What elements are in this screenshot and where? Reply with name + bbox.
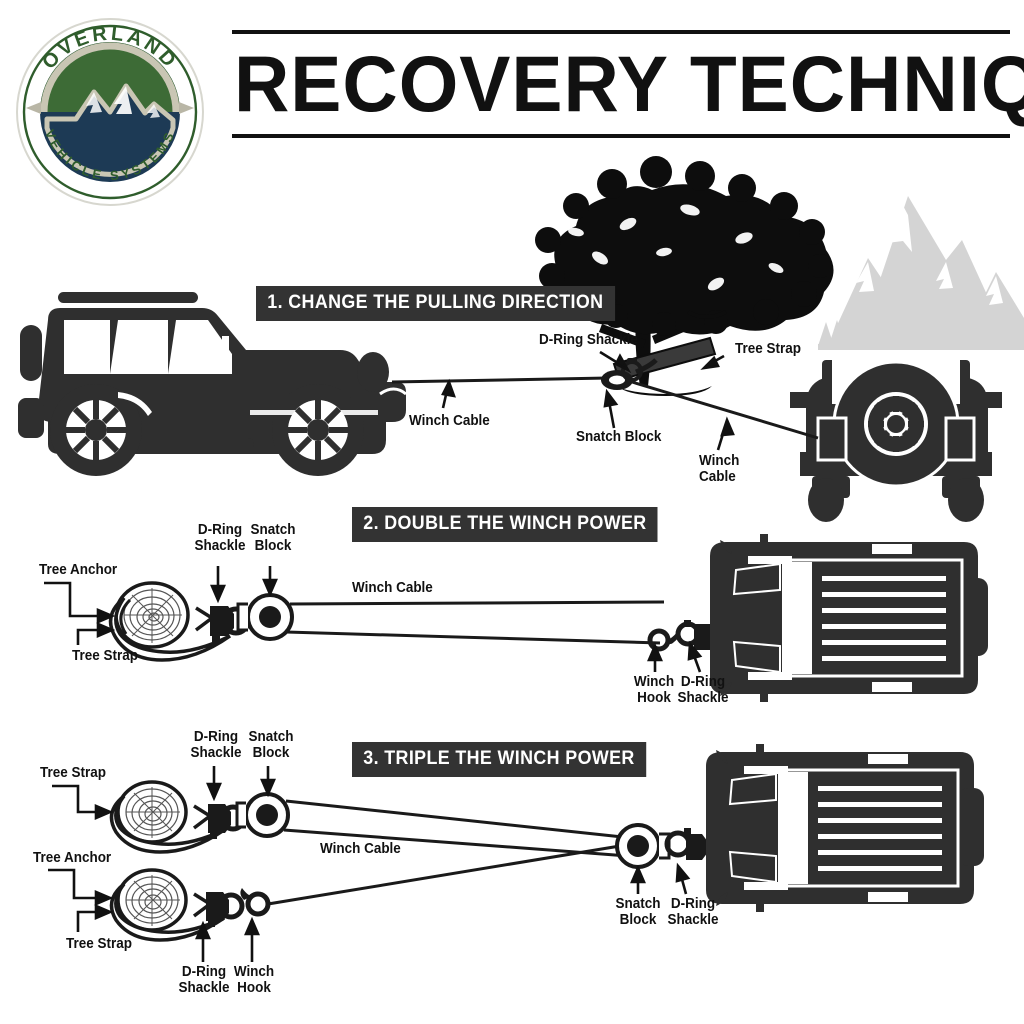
jeep-top-view-s2 (710, 534, 988, 702)
label-s1-winch-cable-right: Winch Cable (699, 453, 739, 485)
label-s3-tree-anchor: Tree Anchor (33, 850, 111, 866)
mountain-backdrop (818, 196, 1024, 350)
label-s2-winch-hook: Winch Hook (627, 674, 681, 706)
winch-cable-left-line (392, 378, 608, 382)
label-s1-d-ring-shackle: D-Ring Shackle (539, 332, 638, 348)
section-banner-3: 3. TRIPLE THE WINCH POWER (352, 742, 646, 777)
label-s3-tree-strap-lower: Tree Strap (66, 936, 132, 952)
label-s2-winch-cable: Winch Cable (352, 580, 433, 596)
label-s1-winch-cable-left: Winch Cable (409, 413, 490, 429)
snatch-block-upper-s3 (237, 794, 288, 836)
d-ring-shackle-upper-s3 (208, 804, 244, 839)
label-s3-winch-cable: Winch Cable (320, 841, 401, 857)
snatch-block-vehicle-s3 (617, 825, 669, 867)
d-ring-shackle-lower-s3 (206, 892, 242, 927)
label-s3-winch-hook: Winch Hook (229, 964, 279, 996)
tree-strap-upper-s3 (112, 796, 225, 852)
label-s3-snatch-block-vehicle: Snatch Block (611, 896, 665, 928)
label-s2-tree-strap: Tree Strap (72, 648, 138, 664)
label-s3-d-ring-shackle-lower: D-Ring Shackle (175, 964, 233, 996)
title-rule-bottom (232, 134, 1010, 138)
tree-anchor-s2 (116, 583, 188, 647)
tree-anchor-lower-s3 (118, 870, 186, 930)
label-s1-snatch-block: Snatch Block (576, 429, 661, 445)
d-ring-shackle-vehicle-s2 (678, 620, 716, 650)
section-banner-1: 1. CHANGE THE PULLING DIRECTION (256, 286, 615, 321)
overland-vehicle-systems-logo: OVERLAND VEHICLE SYSTEMS (14, 16, 206, 208)
infographic-root: OVERLAND VEHICLE SYSTEMS RECOVERY TECHNI… (0, 0, 1024, 1024)
label-s3-snatch-block-upper: Snatch Block (244, 729, 298, 761)
label-s2-snatch-block: Snatch Block (246, 522, 300, 554)
winch-cable-bottom-s2 (286, 632, 660, 643)
d-ring-shackle-s1 (623, 358, 656, 380)
tree-silhouette (535, 156, 834, 396)
winch-hook-s2 (650, 626, 680, 649)
section-banner-2: 2. DOUBLE THE WINCH POWER (352, 507, 658, 542)
jeep-top-view-s3 (706, 744, 984, 912)
label-s1-tree-strap: Tree Strap (735, 341, 801, 357)
label-s3-d-ring-shackle-upper: D-Ring Shackle (188, 729, 244, 761)
label-s2-d-ring-shackle: D-Ring Shackle (192, 522, 248, 554)
label-s3-tree-strap-upper: Tree Strap (40, 765, 106, 781)
tree-strap-lower-s3 (112, 884, 225, 940)
d-ring-shackle-s2 (210, 606, 248, 643)
title-block: RECOVERY TECHNIQUES (232, 28, 1010, 138)
winch-cable-top-s2 (290, 602, 664, 604)
title-rule-top (232, 30, 1010, 34)
d-ring-shackle-vehicle-s3 (667, 828, 708, 860)
label-s3-d-ring-shackle-vehicle: D-Ring Shackle (664, 896, 722, 928)
tree-anchor-upper-s3 (118, 782, 186, 842)
page-title: RECOVERY TECHNIQUES (234, 36, 989, 132)
winch-hook-s3 (240, 888, 268, 914)
snatch-block-s2 (238, 595, 292, 639)
jeep-rear-view (790, 356, 1002, 522)
label-s2-d-ring-shackle-vehicle: D-Ring Shackle (674, 674, 732, 706)
label-s2-tree-anchor: Tree Anchor (39, 562, 117, 578)
snatch-block-s1 (601, 370, 633, 390)
